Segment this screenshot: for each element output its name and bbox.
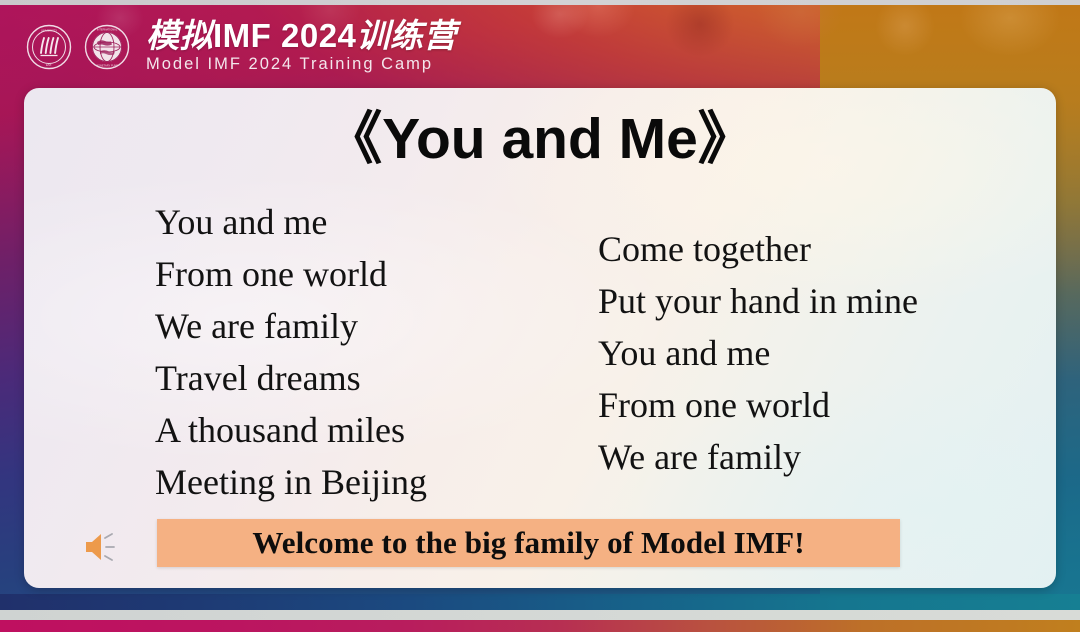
header-title-en: Model IMF 2024 Training Camp bbox=[146, 55, 457, 75]
imf-seal-logo: INTERNATIONAL MONETARY FUND bbox=[84, 24, 130, 70]
welcome-banner-text: Welcome to the big family of Model IMF! bbox=[252, 525, 804, 561]
header-title-cn-latin: IMF 2024 bbox=[213, 17, 356, 54]
bottom-band-grey bbox=[0, 610, 1080, 620]
lyric-line: From one world bbox=[155, 248, 427, 300]
lyric-line: Come together bbox=[598, 223, 918, 275]
slide-screenshot: UNIVERSITY EST. I bbox=[0, 0, 1080, 632]
university-seal-logo: UNIVERSITY EST. bbox=[26, 24, 72, 70]
svg-text:MONETARY FUND: MONETARY FUND bbox=[96, 63, 118, 67]
svg-text:UNIVERSITY: UNIVERSITY bbox=[41, 28, 57, 32]
header-title-cn: 模拟IMF 2024训练营 bbox=[146, 19, 457, 54]
header-title-cn-prefix: 模拟 bbox=[146, 17, 213, 54]
bottom-band-teal bbox=[0, 594, 1080, 610]
lyric-line: Put your hand in mine bbox=[598, 275, 918, 327]
header-title-cn-suffix: 训练营 bbox=[356, 17, 457, 54]
header-title-block: 模拟IMF 2024训练营 Model IMF 2024 Training Ca… bbox=[146, 19, 457, 75]
lyrics-column-right: Come together Put your hand in mine You … bbox=[598, 223, 918, 483]
lyric-line: You and me bbox=[598, 327, 918, 379]
slide-title: 《You and Me》 bbox=[24, 108, 1056, 171]
lyric-line: Travel dreams bbox=[155, 352, 427, 404]
lyric-line: We are family bbox=[598, 431, 918, 483]
lyric-line: Meeting in Beijing bbox=[155, 456, 427, 508]
lyric-line: A thousand miles bbox=[155, 404, 427, 456]
lyric-line: From one world bbox=[598, 379, 918, 431]
svg-text:EST.: EST. bbox=[46, 62, 52, 66]
lyrics-column-left: You and me From one world We are family … bbox=[155, 196, 427, 508]
lyric-line: You and me bbox=[155, 196, 427, 248]
welcome-banner: Welcome to the big family of Model IMF! bbox=[157, 519, 900, 567]
bottom-band-warm bbox=[0, 620, 1080, 632]
svg-text:INTERNATIONAL: INTERNATIONAL bbox=[97, 27, 118, 31]
lyric-line: We are family bbox=[155, 300, 427, 352]
banner-row: Welcome to the big family of Model IMF! bbox=[24, 519, 1056, 577]
event-header: UNIVERSITY EST. I bbox=[0, 5, 457, 88]
slide-card: 《You and Me》 You and me From one world W… bbox=[24, 88, 1056, 588]
speaker-volume-icon[interactable] bbox=[80, 529, 120, 565]
